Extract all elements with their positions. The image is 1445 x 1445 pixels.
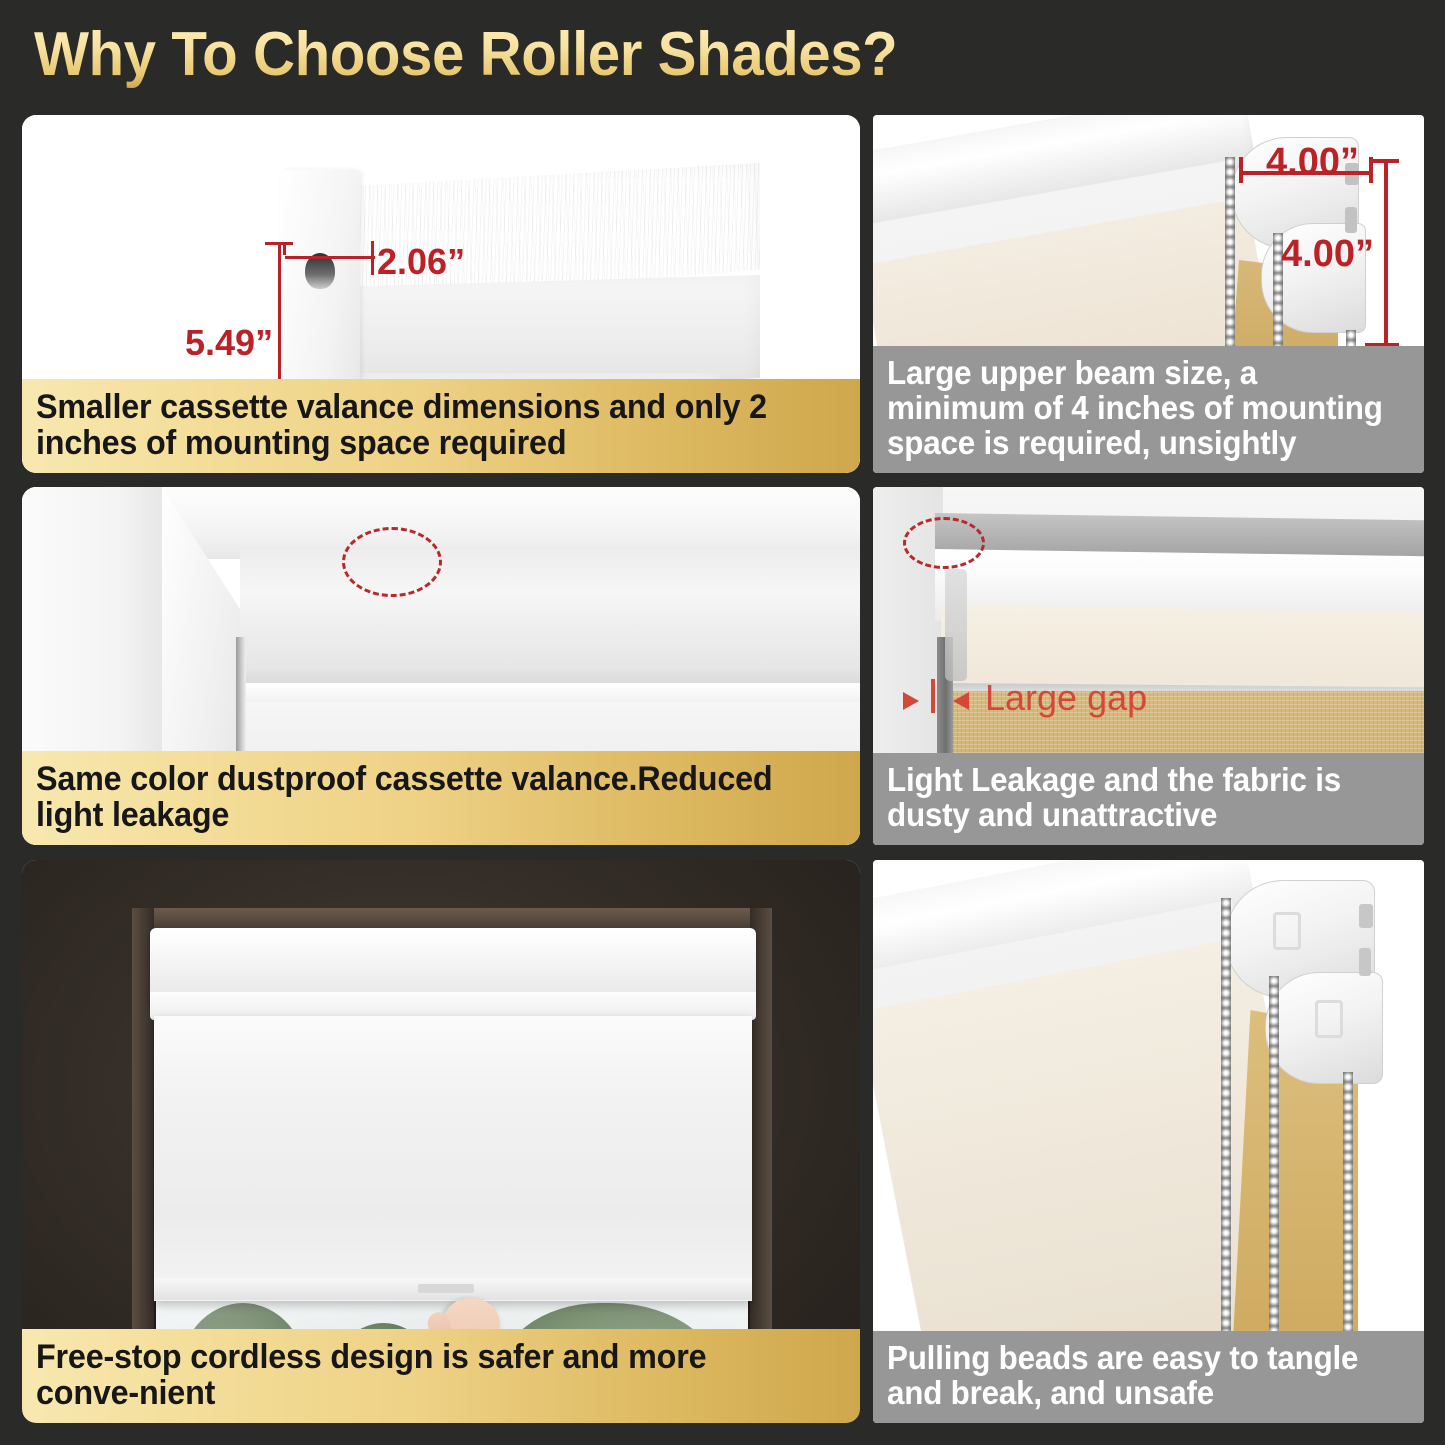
panel-pro-cassette-size: 2.06” 5.49” Smaller cassette valance dim… <box>22 115 860 473</box>
gap-arrow-left-icon <box>953 692 969 710</box>
dashed-ellipse-marker <box>342 527 442 597</box>
caption-con-beam-size: Large upper beam size, a minimum of 4 in… <box>873 346 1424 473</box>
plastic-clip-icon <box>945 569 967 681</box>
panel-pro-dustproof-valance: smaller gap Same color dustproof cassett… <box>22 487 860 845</box>
cassette-valance-face <box>240 549 860 689</box>
panel-con-light-leakage: Large gap Light Leakage and the fabric i… <box>873 487 1424 845</box>
bracket-mount-slot-b <box>1359 948 1371 976</box>
bracket-chain-icon-upper <box>1273 912 1301 950</box>
bracket-mount-slot-lower <box>1345 207 1357 233</box>
brand-tab <box>418 1284 474 1293</box>
caption-con-light-leakage: Light Leakage and the fabric is dusty an… <box>873 753 1424 845</box>
beam-height-dim-line <box>1384 161 1388 346</box>
beam-height-label: 4.00” <box>1281 233 1374 276</box>
height-dimension-label: 5.49” <box>185 322 273 364</box>
caption-pro-cordless-design: Free-stop cordless design is safer and m… <box>22 1329 860 1423</box>
beam-height-cap-top <box>1373 159 1399 163</box>
shade-fabric-panel <box>154 1016 752 1301</box>
panel-con-pulling-beads: Pulling beads are easy to tangle and bre… <box>873 860 1424 1423</box>
height-dim-cap-top <box>265 242 293 245</box>
panel-con-beam-size: 4.00” 4.00” Large upper beam size, a min… <box>873 115 1424 473</box>
bracket-mount-slot-a <box>1359 904 1373 928</box>
panel-pro-cordless-design: Free-stop cordless design is safer and m… <box>22 860 860 1423</box>
width-dim-tick-right <box>371 241 374 275</box>
caption-pro-dustproof-valance: Same color dustproof cassette valance.Re… <box>22 751 860 845</box>
bracket-chain-icon-lower <box>1315 1000 1343 1038</box>
beam-width-tick-left <box>1239 157 1243 183</box>
caption-con-pulling-beads: Pulling beads are easy to tangle and bre… <box>873 1331 1424 1423</box>
page-title: Why To Choose Roller Shades? <box>34 19 897 90</box>
width-dimension-label: 2.06” <box>377 241 465 283</box>
beam-width-label: 4.00” <box>1266 141 1359 184</box>
width-dim-line <box>285 256 375 259</box>
caption-pro-cassette-size: Smaller cassette valance dimensions and … <box>22 379 860 473</box>
gap-arrow-right-icon <box>903 692 919 710</box>
header: Why To Choose Roller Shades? <box>0 0 1445 108</box>
large-gap-label: Large gap <box>985 677 1147 719</box>
gap-tick-mark <box>931 679 935 713</box>
dashed-ellipse-marker <box>903 517 985 569</box>
